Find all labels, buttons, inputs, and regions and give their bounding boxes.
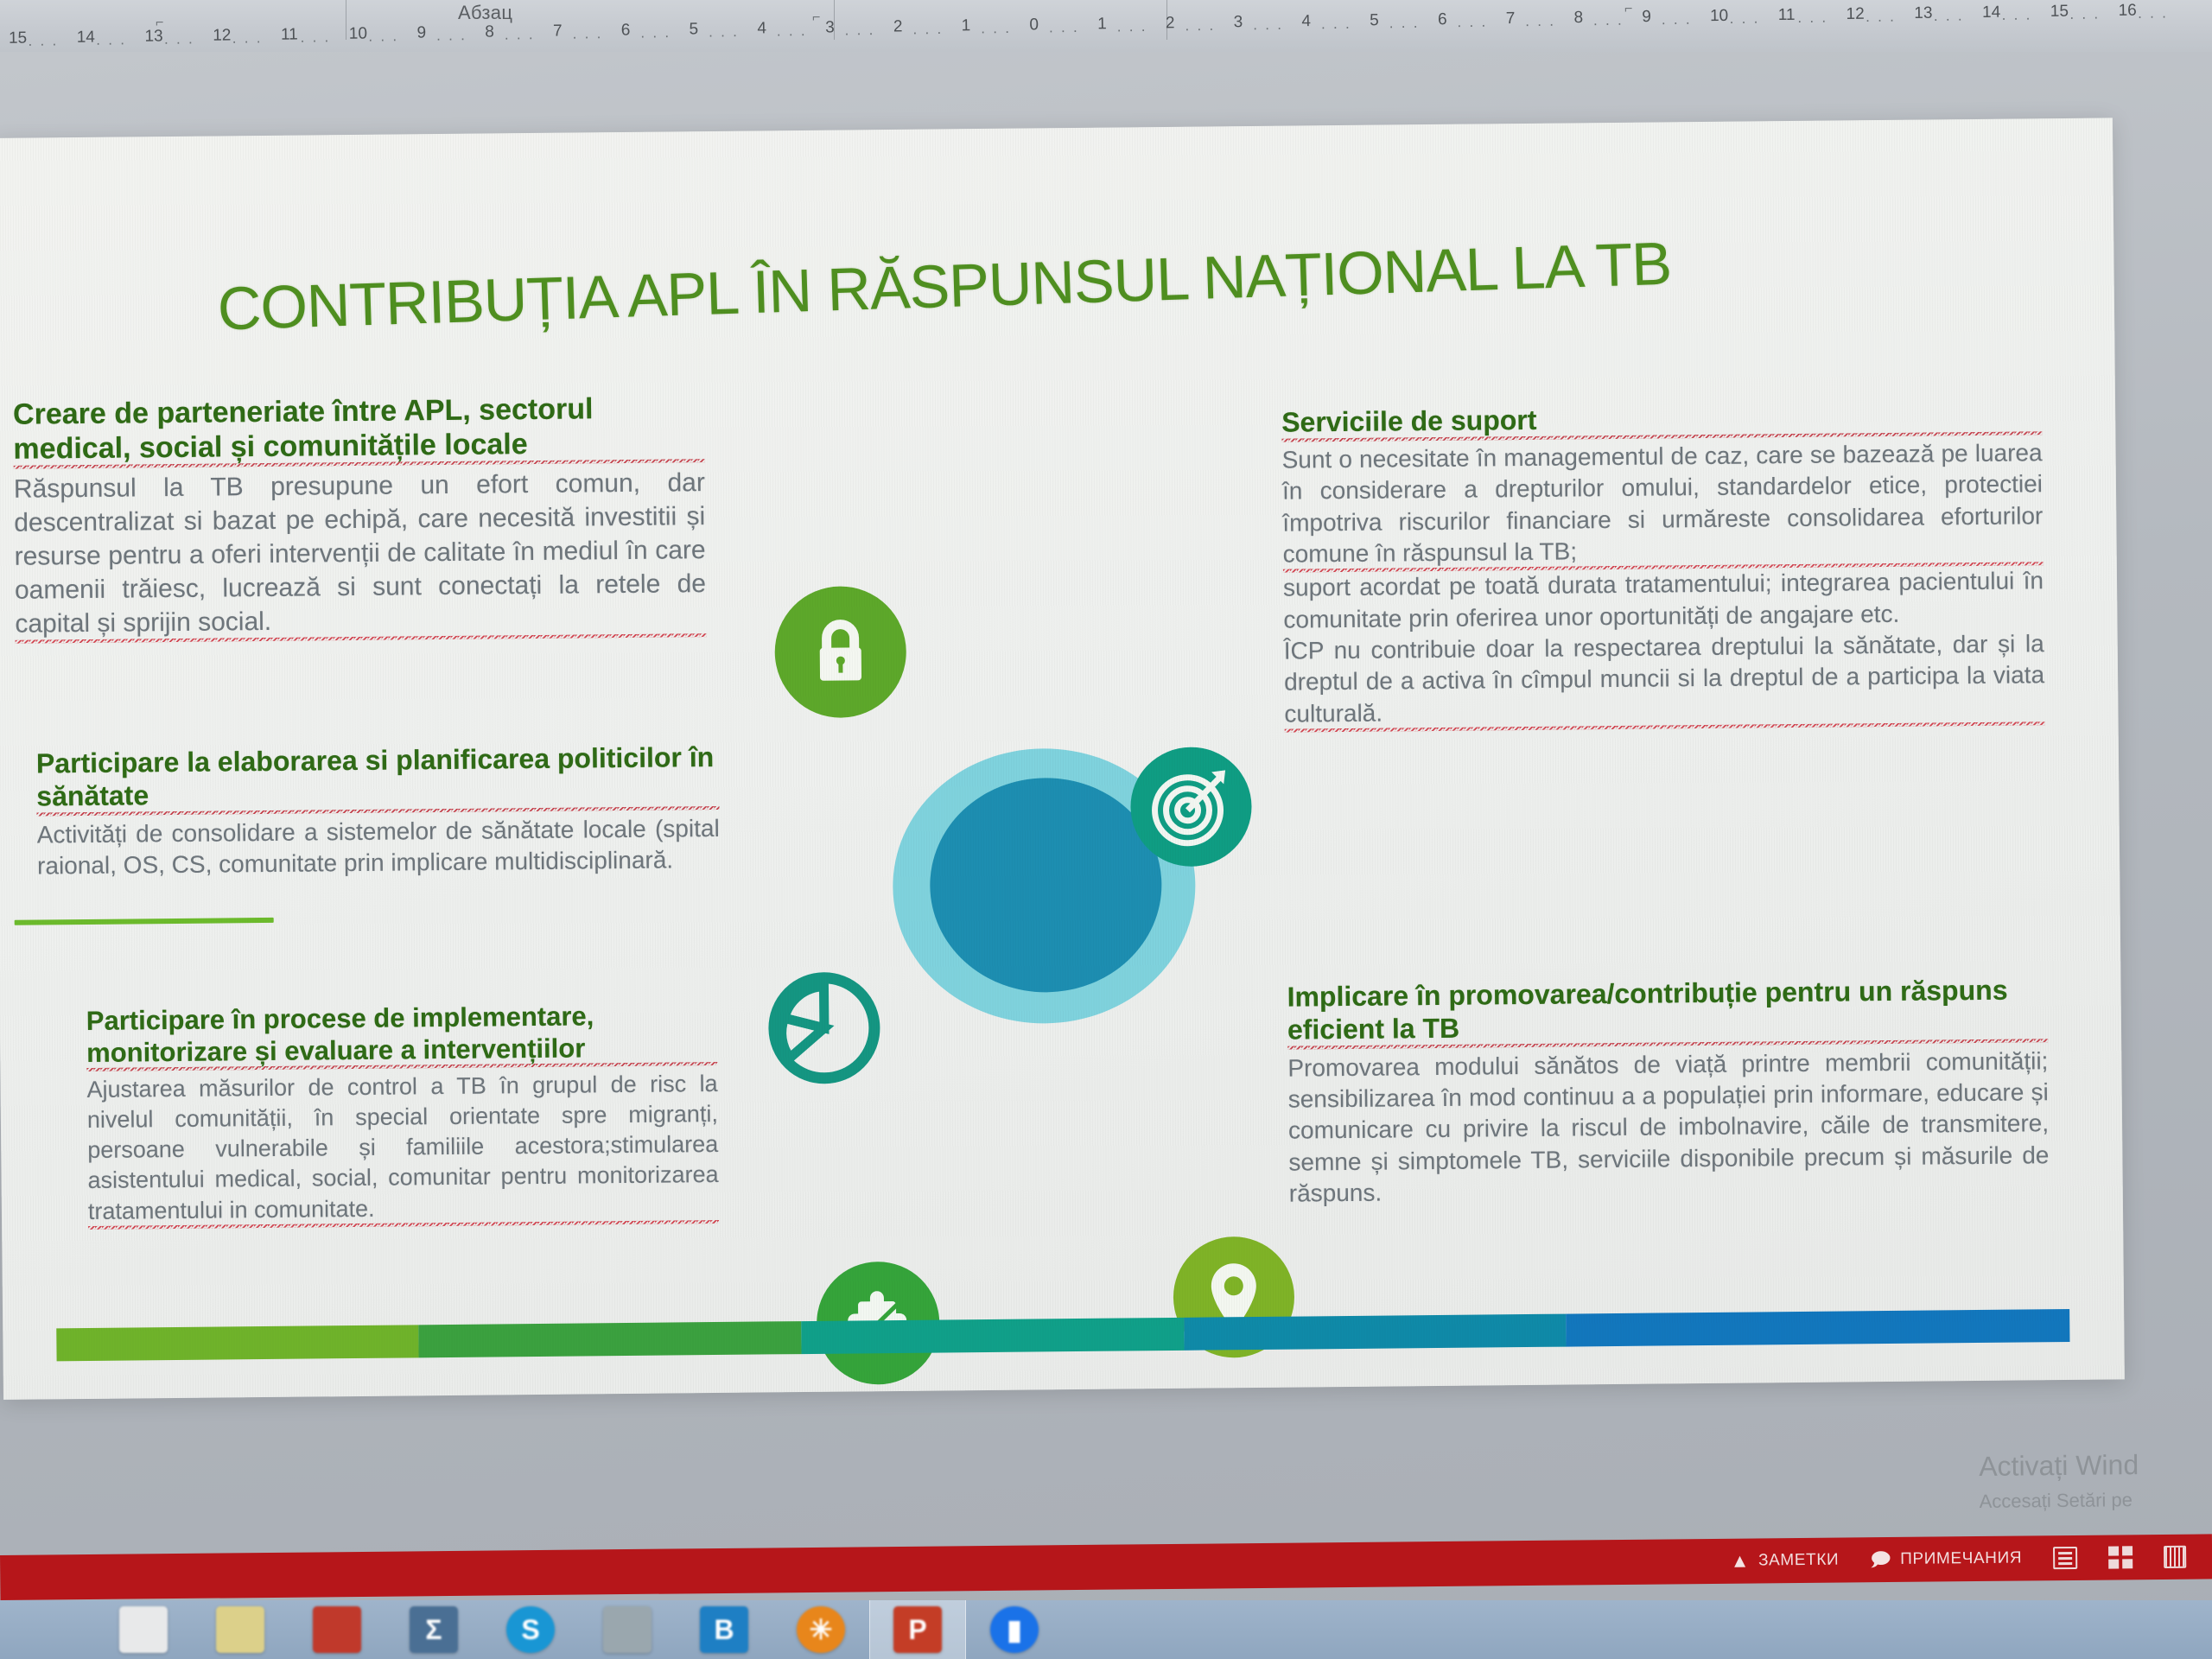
text-block-support-services[interactable]: Serviciile de suport Sunt o necesitate î… bbox=[1281, 399, 2045, 733]
ruler-tick: 13 bbox=[144, 28, 162, 47]
ruler-tick: 1 bbox=[1097, 15, 1107, 34]
horizontal-ruler[interactable]: 15···14···13···12···11···10···9···8···7·… bbox=[0, 0, 2212, 52]
ruler-tick: 15 bbox=[9, 29, 27, 48]
ruler-tick: 14 bbox=[77, 29, 95, 48]
ruler-minor-dot: · bbox=[584, 29, 589, 46]
ruler-minor-dot: · bbox=[2150, 8, 2155, 25]
ruler-tick: 10 bbox=[349, 24, 367, 43]
ruler-minor-dot: · bbox=[120, 35, 125, 52]
lock-icon[interactable] bbox=[774, 586, 906, 718]
ruler-minor-dot: · bbox=[28, 36, 33, 52]
ruler-minor-dot: · bbox=[788, 26, 793, 43]
watermark-line-2: Accesați Setări pe bbox=[1979, 1486, 2212, 1515]
ruler-minor-dot: · bbox=[2138, 9, 2143, 26]
color-band bbox=[1184, 1314, 1567, 1351]
ruler-minor-dot: · bbox=[925, 24, 930, 41]
ruler-tick: 5 bbox=[689, 20, 698, 39]
ruler-minor-dot: · bbox=[652, 28, 658, 45]
slide-canvas[interactable]: CONTRIBUȚIA APL ÎN RĂSPUNSUL NAȚIONAL LA… bbox=[0, 118, 2125, 1399]
ruler-minor-dot: · bbox=[1890, 11, 1895, 29]
comments-icon: 🗩 bbox=[1870, 1550, 1891, 1569]
target-icon[interactable] bbox=[1130, 747, 1252, 867]
ruler-minor-dot: · bbox=[1005, 23, 1010, 41]
ruler-minor-dot: · bbox=[2094, 9, 2099, 26]
ruler-minor-dot: · bbox=[1072, 22, 1077, 40]
ruler-minor-dot: · bbox=[1729, 14, 1734, 31]
ruler-tick: 13 bbox=[1914, 4, 1932, 23]
windows-activation-watermark: Activați Wind Accesați Setări pe bbox=[1979, 1446, 2212, 1515]
ruler-minor-dot: · bbox=[516, 29, 521, 47]
ruler-minor-dot: · bbox=[380, 31, 385, 48]
ruler-minor-dot: · bbox=[1277, 20, 1282, 37]
ruler-minor-dot: · bbox=[1945, 10, 1950, 28]
ruler-minor-dot: · bbox=[1141, 22, 1146, 39]
ruler-minor-dot: · bbox=[572, 29, 577, 46]
taskbar-skype-icon: S bbox=[506, 1606, 555, 1653]
ruler-tick: 15 bbox=[2050, 3, 2069, 22]
status-comments-button[interactable]: 🗩 ПРИМЕЧАНИЯ bbox=[1870, 1549, 2022, 1570]
ruler-minor-dot: · bbox=[244, 33, 249, 50]
ruler-minor-dot: · bbox=[1866, 12, 1871, 29]
ruler-tick: 11 bbox=[281, 25, 298, 44]
status-notes-button[interactable]: ▲ ЗАМЕТКИ bbox=[1731, 1551, 1840, 1571]
ruler-minor-dot: · bbox=[232, 33, 237, 50]
taskbar-file-explorer-icon bbox=[119, 1606, 168, 1653]
block-heading-support: Serviciile de suport bbox=[1281, 399, 2042, 442]
ruler-minor-dot: · bbox=[1605, 16, 1610, 33]
taskbar-photos[interactable] bbox=[192, 1600, 289, 1659]
ruler-tick: 8 bbox=[485, 23, 494, 42]
reading-view-icon[interactable] bbox=[2053, 1547, 2077, 1569]
ruler-tick: 16 bbox=[2118, 2, 2136, 21]
slide-show-icon[interactable] bbox=[2164, 1546, 2186, 1568]
ruler-minor-dot: · bbox=[1525, 16, 1530, 34]
ruler-minor-dot: · bbox=[1469, 17, 1474, 35]
ruler-minor-dot: · bbox=[1457, 17, 1462, 35]
watermark-line-1: Activați Wind bbox=[1979, 1446, 2212, 1486]
block-body-support-p1: Sunt o necesitate în managementul de caz… bbox=[1281, 437, 2043, 573]
notes-label: ЗАМЕТКИ bbox=[1758, 1551, 1839, 1571]
block-body-policies: Activități de consolidare a sistemelor d… bbox=[37, 812, 721, 881]
slide-canvas-wrapper: CONTRIBUȚIA APL ÎN RĂSPUNSUL NAȚIONAL LA… bbox=[0, 118, 2138, 1434]
ruler-minor-dot: · bbox=[1344, 19, 1350, 36]
block-heading-policies: Participare la elaborarea si planificare… bbox=[36, 741, 720, 816]
ruler-minor-dot: · bbox=[1753, 13, 1758, 30]
block-body-support-p3: ÎCP nu contribuie doar la respectarea dr… bbox=[1284, 628, 2045, 733]
ruler-minor-dot: · bbox=[1332, 19, 1338, 36]
ruler-minor-dot: · bbox=[721, 27, 726, 44]
taskbar-zoom[interactable]: ▮ bbox=[966, 1600, 1063, 1659]
ruler-minor-dot: · bbox=[1116, 22, 1122, 39]
taskbar-asterisk-app[interactable]: ✳ bbox=[772, 1600, 869, 1659]
ruler-tick: 9 bbox=[1642, 8, 1651, 27]
ruler-minor-dot: · bbox=[856, 25, 861, 42]
slide-title[interactable]: CONTRIBUȚIA APL ÎN RĂSPUNSUL NAȚIONAL LA… bbox=[217, 223, 1860, 344]
ruler-minor-dot: · bbox=[52, 35, 57, 52]
ruler-minor-dot: · bbox=[2001, 10, 2006, 28]
ruler-tick: 5 bbox=[1370, 11, 1379, 30]
taskbar-powerpoint[interactable]: P bbox=[869, 1600, 966, 1659]
ruler-minor-dot: · bbox=[1878, 11, 1883, 29]
ruler-minor-dot: · bbox=[1592, 16, 1598, 33]
ruler-minor-dot: · bbox=[1185, 21, 1190, 38]
ruler-minor-dot: · bbox=[596, 29, 601, 46]
ruler-minor-dot: · bbox=[1253, 20, 1258, 37]
ruler-minor-dot: · bbox=[436, 30, 442, 48]
block-body-partnerships: Răspunsul la TB presupune un efort comun… bbox=[14, 466, 707, 644]
ruler-minor-dot: · bbox=[733, 27, 738, 44]
taskbar-translate[interactable]: Σ bbox=[385, 1600, 482, 1659]
ruler-minor-dot: · bbox=[1957, 10, 1962, 28]
taskbar-paint[interactable] bbox=[289, 1600, 385, 1659]
taskbar-paint-icon bbox=[313, 1606, 361, 1653]
ruler-minor-dot: · bbox=[800, 26, 805, 43]
slide-sorter-icon[interactable] bbox=[2108, 1546, 2133, 1568]
ruler-minor-dot: · bbox=[1209, 21, 1214, 38]
ruler-minor-dot: · bbox=[175, 34, 181, 51]
ruler-tick: 2 bbox=[893, 17, 903, 36]
ruler-tick: 12 bbox=[213, 27, 231, 46]
ruler-tick: 14 bbox=[1982, 3, 2000, 22]
ruler-tick: 1 bbox=[962, 16, 971, 35]
text-block-promotion[interactable]: Implicare în promovarea/contribuție pent… bbox=[1287, 974, 2049, 1210]
taskbar-file-explorer[interactable] bbox=[95, 1600, 192, 1659]
ruler-minor-dot: · bbox=[1685, 14, 1690, 31]
taskbar-powerpoint-icon: P bbox=[893, 1606, 942, 1653]
ruler-minor-dot: · bbox=[1481, 16, 1486, 34]
color-band bbox=[419, 1321, 802, 1357]
text-block-partnerships[interactable]: Creare de parteneriate între APL, sector… bbox=[13, 391, 707, 644]
ruler-minor-dot: · bbox=[324, 32, 329, 49]
ruler-minor-dot: · bbox=[844, 25, 849, 42]
ruler-minor-dot: · bbox=[1661, 15, 1666, 32]
ruler-tick: 9 bbox=[416, 24, 426, 43]
color-band-strip bbox=[56, 1309, 2069, 1361]
ruler-minor-dot: · bbox=[640, 28, 645, 45]
status-bar: ▲ ЗАМЕТКИ 🗩 ПРИМЕЧАНИЯ bbox=[0, 1534, 2212, 1600]
ruler-tick: 3 bbox=[825, 18, 835, 37]
ruler-minor-dot: · bbox=[776, 26, 781, 43]
ruler-tick: 8 bbox=[1573, 9, 1583, 28]
ruler-minor-dot: · bbox=[2025, 10, 2031, 27]
taskbar-photos-icon bbox=[216, 1606, 264, 1653]
taskbar-skype[interactable]: S bbox=[482, 1600, 579, 1659]
color-band bbox=[56, 1325, 419, 1361]
color-band bbox=[801, 1318, 1184, 1354]
ruler-tick: 7 bbox=[1506, 10, 1516, 29]
ruler-minor-dot: · bbox=[1128, 22, 1134, 39]
ruler-minor-dot: · bbox=[937, 24, 942, 41]
comments-label: ПРИМЕЧАНИЯ bbox=[1900, 1549, 2022, 1569]
ruler-minor-dot: · bbox=[1197, 21, 1202, 38]
text-block-policies[interactable]: Participare la elaborarea si planificare… bbox=[36, 741, 720, 882]
ruler-tick: 6 bbox=[1438, 10, 1447, 29]
ruler-minor-dot: · bbox=[368, 31, 373, 48]
ruler-tick: 11 bbox=[1778, 6, 1796, 25]
ruler-minor-dot: · bbox=[2069, 10, 2075, 27]
ruler-tick: 4 bbox=[757, 19, 766, 38]
pie-chart-icon[interactable] bbox=[760, 963, 888, 1092]
ruler-minor-dot: · bbox=[1933, 11, 1938, 29]
ruler-tick: 7 bbox=[553, 22, 563, 41]
status-bar-right-group: ▲ ЗАМЕТКИ 🗩 ПРИМЕЧАНИЯ bbox=[1730, 1535, 2186, 1584]
center-inner-circle bbox=[929, 777, 1162, 994]
ruler-minor-dot: · bbox=[2013, 10, 2018, 27]
ruler-minor-dot: · bbox=[1401, 18, 1406, 35]
notes-icon: ▲ bbox=[1731, 1552, 1751, 1571]
ruler-minor-dot: · bbox=[1741, 14, 1746, 31]
ruler-minor-dot: · bbox=[664, 28, 670, 45]
ruler-minor-dot: · bbox=[188, 34, 193, 51]
ruler-minor-dot: · bbox=[1320, 19, 1325, 36]
ruler-minor-dot: · bbox=[40, 35, 45, 52]
block-body-promotion: Promovarea modului sănătos de viață prin… bbox=[1287, 1046, 2050, 1210]
text-block-monitoring[interactable]: Participare în procese de implementare, … bbox=[86, 1000, 719, 1230]
ruler-minor-dot: · bbox=[163, 34, 168, 51]
ruler-minor-dot: · bbox=[912, 24, 918, 41]
block-body-support-p2: suport acordat pe toată durata tratament… bbox=[1283, 566, 2044, 636]
ruler-area: Абзац ⌐ ⌐ ⌐ 15···14···13···12···11···10·… bbox=[0, 0, 2212, 52]
block-heading-monitoring: Participare în procese de implementare, … bbox=[86, 1000, 718, 1071]
ruler-minor-dot: · bbox=[868, 25, 874, 42]
ruler-minor-dot: · bbox=[1809, 13, 1815, 30]
ruler-minor-dot: · bbox=[1549, 16, 1554, 33]
taskbar-translate-icon: Σ bbox=[410, 1606, 458, 1653]
ruler-minor-dot: · bbox=[1673, 15, 1678, 32]
color-band bbox=[1567, 1309, 2070, 1347]
ruler-minor-dot: · bbox=[300, 32, 305, 49]
block-body-monitoring: Ajustarea măsurilor de control a TB în g… bbox=[86, 1069, 719, 1229]
ruler-tick: 4 bbox=[1301, 12, 1311, 31]
ruler-minor-dot: · bbox=[1048, 22, 1053, 40]
ruler-minor-dot: · bbox=[1617, 15, 1622, 32]
ruler-minor-dot: · bbox=[448, 30, 454, 48]
ruler-minor-dot: · bbox=[2082, 9, 2087, 26]
ruler-tick: 12 bbox=[1846, 5, 1864, 24]
taskbar-store-icon bbox=[603, 1606, 652, 1653]
ruler-tick: 0 bbox=[1029, 16, 1039, 35]
taskbar-asterisk-app-icon: ✳ bbox=[797, 1606, 845, 1653]
ruler-minor-dot: · bbox=[1797, 13, 1802, 30]
ruler-minor-dot: · bbox=[709, 27, 714, 44]
screen: Абзац ⌐ ⌐ ⌐ 15···14···13···12···11···10·… bbox=[0, 0, 2212, 1659]
ruler-tick: 6 bbox=[621, 21, 631, 40]
block-heading-partnerships: Creare de parteneriate între APL, sector… bbox=[13, 391, 705, 469]
ruler-minor-dot: · bbox=[993, 23, 998, 41]
ruler-tick: 2 bbox=[1166, 14, 1175, 33]
green-divider-rule bbox=[15, 918, 274, 925]
ruler-minor-dot: · bbox=[256, 33, 261, 50]
ruler-minor-dot: · bbox=[312, 32, 317, 49]
taskbar-bing[interactable]: B bbox=[676, 1600, 772, 1659]
ruler-tick: 3 bbox=[1234, 13, 1243, 32]
ruler-minor-dot: · bbox=[1389, 18, 1394, 35]
ruler-minor-dot: · bbox=[504, 29, 509, 47]
ruler-minor-dot: · bbox=[981, 23, 986, 41]
ruler-tick: 10 bbox=[1710, 7, 1728, 26]
ruler-minor-dot: · bbox=[1413, 18, 1418, 35]
ruler-minor-dot: · bbox=[392, 31, 397, 48]
block-heading-promotion: Implicare în promovarea/contribuție pent… bbox=[1287, 974, 2048, 1049]
ruler-minor-dot: · bbox=[1537, 16, 1542, 34]
ruler-minor-dot: · bbox=[1060, 22, 1065, 40]
ruler-minor-dot: · bbox=[96, 35, 101, 52]
windows-taskbar: ΣSB✳P▮ bbox=[0, 1600, 2212, 1659]
taskbar-bing-icon: B bbox=[700, 1606, 748, 1653]
taskbar-store[interactable] bbox=[579, 1600, 676, 1659]
ruler-minor-dot: · bbox=[1265, 20, 1270, 37]
ruler-minor-dot: · bbox=[1821, 12, 1827, 29]
ruler-minor-dot: · bbox=[461, 30, 466, 48]
ruler-minor-dot: · bbox=[528, 29, 533, 47]
ruler-minor-dot: · bbox=[2162, 8, 2167, 25]
taskbar-zoom-icon: ▮ bbox=[990, 1606, 1039, 1653]
ruler-minor-dot: · bbox=[108, 35, 113, 52]
